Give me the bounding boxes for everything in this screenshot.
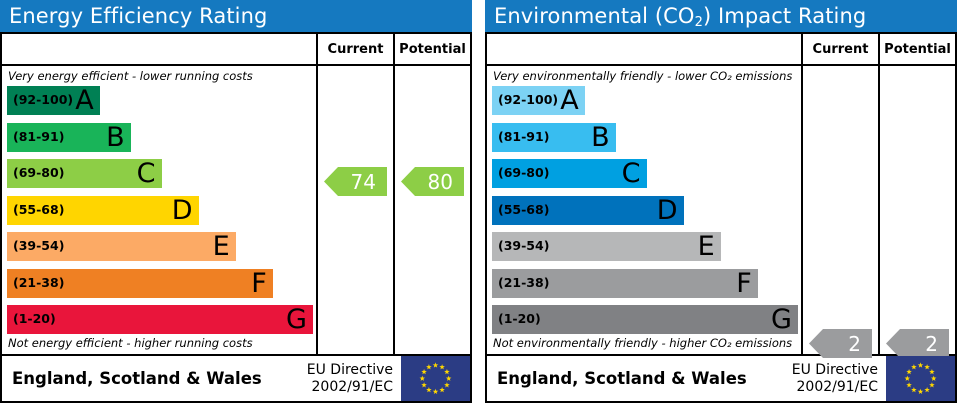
table-header-row: CurrentPotential [487,34,955,66]
band-area: Very energy efficient - lower running co… [2,66,316,354]
band-letter-F: F [251,270,269,297]
rating-band-D: (55-68)D [7,196,199,225]
band-range-label: (55-68) [498,204,549,217]
band-letter-A: A [560,87,580,114]
band-range-label: (1-20) [13,313,56,326]
column-header-potential-label: Potential [395,34,470,64]
rating-band-E: (39-54)E [492,232,721,261]
header-cell-potential: Potential [393,34,470,64]
chart-title-co2-impact: Environmental (CO2) Impact Rating [485,0,957,32]
band-letter-D: D [172,197,195,224]
band-letter-F: F [736,270,754,297]
column-header-current-label: Current [803,34,878,64]
rating-value-potential: 2 [925,332,938,356]
eu-flag-icon [886,356,955,401]
band-range-label: (69-80) [498,167,549,180]
potential-rating-arrow: 80 [401,167,464,196]
header-cell-current: Current [316,34,393,64]
caption-bottom: Not environmentally friendly - higher CO… [487,334,801,354]
header-cell-current: Current [801,34,878,64]
band-range-label: (92-100) [498,94,558,107]
rating-band-F: (21-38)F [492,269,758,298]
potential-rating-cell: 2 [878,66,955,354]
rating-band-D: (55-68)D [492,196,684,225]
band-letter-G: G [286,306,309,333]
band-letter-B: B [591,124,612,151]
caption-top: Very energy efficient - lower running co… [2,66,316,86]
rating-band-E: (39-54)E [7,232,236,261]
band-range-label: (81-91) [13,131,64,144]
rating-band-B: (81-91)B [492,123,616,152]
potential-rating-cell: 80 [393,66,470,354]
rating-band-B: (81-91)B [7,123,131,152]
band-range-label: (69-80) [13,167,64,180]
band-column: Very energy efficient - lower running co… [2,66,316,354]
band-letter-G: G [771,306,794,333]
header-spacer-cell [487,34,801,64]
footer-country-label: England, Scotland & Wales [487,369,792,388]
column-header-current-label: Current [318,34,393,64]
epc-charts-container: Energy Efficiency RatingCurrentPotential… [0,0,957,404]
band-letter-E: E [213,233,232,260]
rating-bands: (92-100)A(81-91)B(69-80)C(55-68)D(39-54)… [2,86,316,334]
header-cell-potential: Potential [878,34,955,64]
rating-band-C: (69-80)C [492,159,647,188]
footer-directive-label: EU Directive2002/91/EC [307,362,401,396]
rating-band-G: (1-20)G [492,305,798,334]
table-footer-row: England, Scotland & WalesEU Directive200… [2,354,470,401]
footer-country-label: England, Scotland & Wales [2,369,307,388]
rating-band-C: (69-80)C [7,159,162,188]
band-letter-B: B [106,124,127,151]
band-letter-D: D [657,197,680,224]
table-body-row: Very energy efficient - lower running co… [2,66,470,354]
band-range-label: (92-100) [13,94,73,107]
rating-band-A: (92-100)A [7,86,100,115]
rating-bands: (92-100)A(81-91)B(69-80)C(55-68)D(39-54)… [487,86,801,334]
rating-value-current: 2 [848,332,861,356]
co2-subscript: 2 [695,15,703,30]
rating-band-F: (21-38)F [7,269,273,298]
epc-table-energy-efficiency: CurrentPotentialVery energy efficient - … [0,32,472,403]
table-body-row: Very environmentally friendly - lower CO… [487,66,955,354]
band-column: Very environmentally friendly - lower CO… [487,66,801,354]
column-header-potential-label: Potential [880,34,955,64]
band-range-label: (21-38) [13,277,64,290]
footer-region: England, Scotland & WalesEU Directive200… [487,356,955,401]
band-range-label: (21-38) [498,277,549,290]
header-spacer-cell [2,34,316,64]
current-rating-cell: 2 [801,66,878,354]
current-rating-arrow: 2 [809,329,872,358]
footer-region: England, Scotland & WalesEU Directive200… [2,356,470,401]
rating-band-G: (1-20)G [7,305,313,334]
band-range-label: (39-54) [498,240,549,253]
band-range-label: (55-68) [13,204,64,217]
rating-value-current: 74 [351,170,376,194]
current-rating-cell: 74 [316,66,393,354]
band-area: Very environmentally friendly - lower CO… [487,66,801,354]
footer-directive-label: EU Directive2002/91/EC [792,362,886,396]
caption-top: Very environmentally friendly - lower CO… [487,66,801,86]
potential-rating-arrow: 2 [886,329,949,358]
band-range-label: (81-91) [498,131,549,144]
caption-bottom: Not energy efficient - higher running co… [2,334,316,354]
chart-title-energy-efficiency: Energy Efficiency Rating [0,0,472,32]
epc-table-co2-impact: CurrentPotentialVery environmentally fri… [485,32,957,403]
rating-band-A: (92-100)A [492,86,585,115]
eu-flag-icon [401,356,470,401]
current-rating-arrow: 74 [324,167,387,196]
table-footer-row: England, Scotland & WalesEU Directive200… [487,354,955,401]
band-letter-C: C [622,160,643,187]
band-letter-E: E [698,233,717,260]
band-letter-C: C [137,160,158,187]
band-range-label: (1-20) [498,313,541,326]
band-range-label: (39-54) [13,240,64,253]
band-letter-A: A [75,87,95,114]
epc-chart-co2-impact: Environmental (CO2) Impact RatingCurrent… [485,0,957,404]
table-header-row: CurrentPotential [2,34,470,66]
rating-value-potential: 80 [428,170,453,194]
epc-chart-energy-efficiency: Energy Efficiency RatingCurrentPotential… [0,0,472,404]
